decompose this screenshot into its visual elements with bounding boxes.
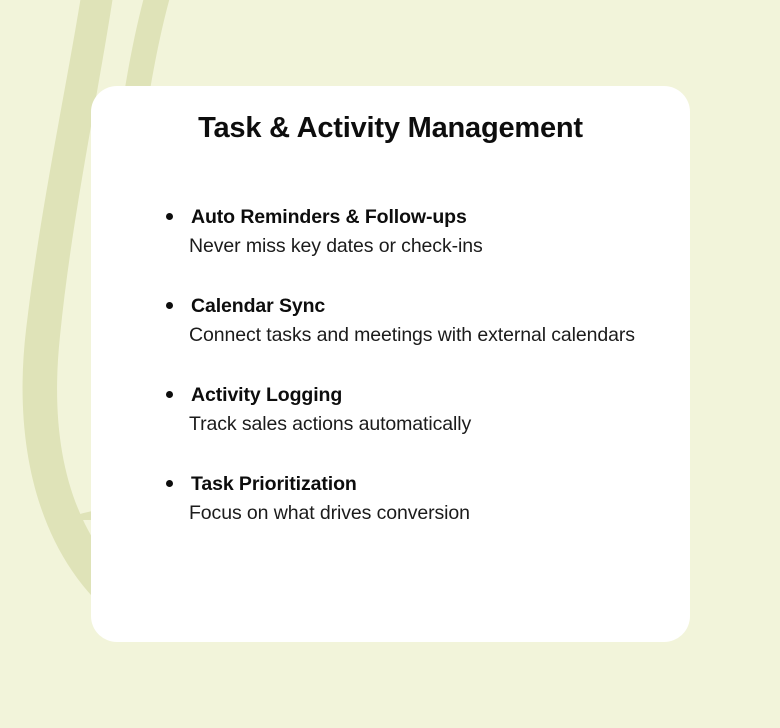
list-item: Activity Logging Track sales actions aut… (166, 382, 646, 440)
feature-title: Auto Reminders & Follow-ups (191, 204, 646, 230)
bullet-icon (166, 302, 173, 309)
page-title: Task & Activity Management (91, 112, 690, 145)
list-item: Calendar Sync Connect tasks and meetings… (166, 293, 646, 351)
list-item: Auto Reminders & Follow-ups Never miss k… (166, 204, 646, 262)
feature-title: Task Prioritization (191, 471, 646, 497)
slide-canvas: Task & Activity Management Auto Reminder… (0, 0, 780, 728)
feature-description: Track sales actions automatically (189, 408, 646, 440)
feature-description: Never miss key dates or check-ins (189, 230, 646, 262)
feature-title: Activity Logging (191, 382, 646, 408)
bullet-icon (166, 213, 173, 220)
feature-title: Calendar Sync (191, 293, 646, 319)
feature-list: Auto Reminders & Follow-ups Never miss k… (166, 204, 646, 529)
list-item: Task Prioritization Focus on what drives… (166, 471, 646, 529)
bullet-icon (166, 391, 173, 398)
feature-description: Focus on what drives conversion (189, 497, 646, 529)
content-card: Task & Activity Management Auto Reminder… (91, 86, 690, 642)
bullet-icon (166, 480, 173, 487)
feature-description: Connect tasks and meetings with external… (189, 319, 646, 351)
